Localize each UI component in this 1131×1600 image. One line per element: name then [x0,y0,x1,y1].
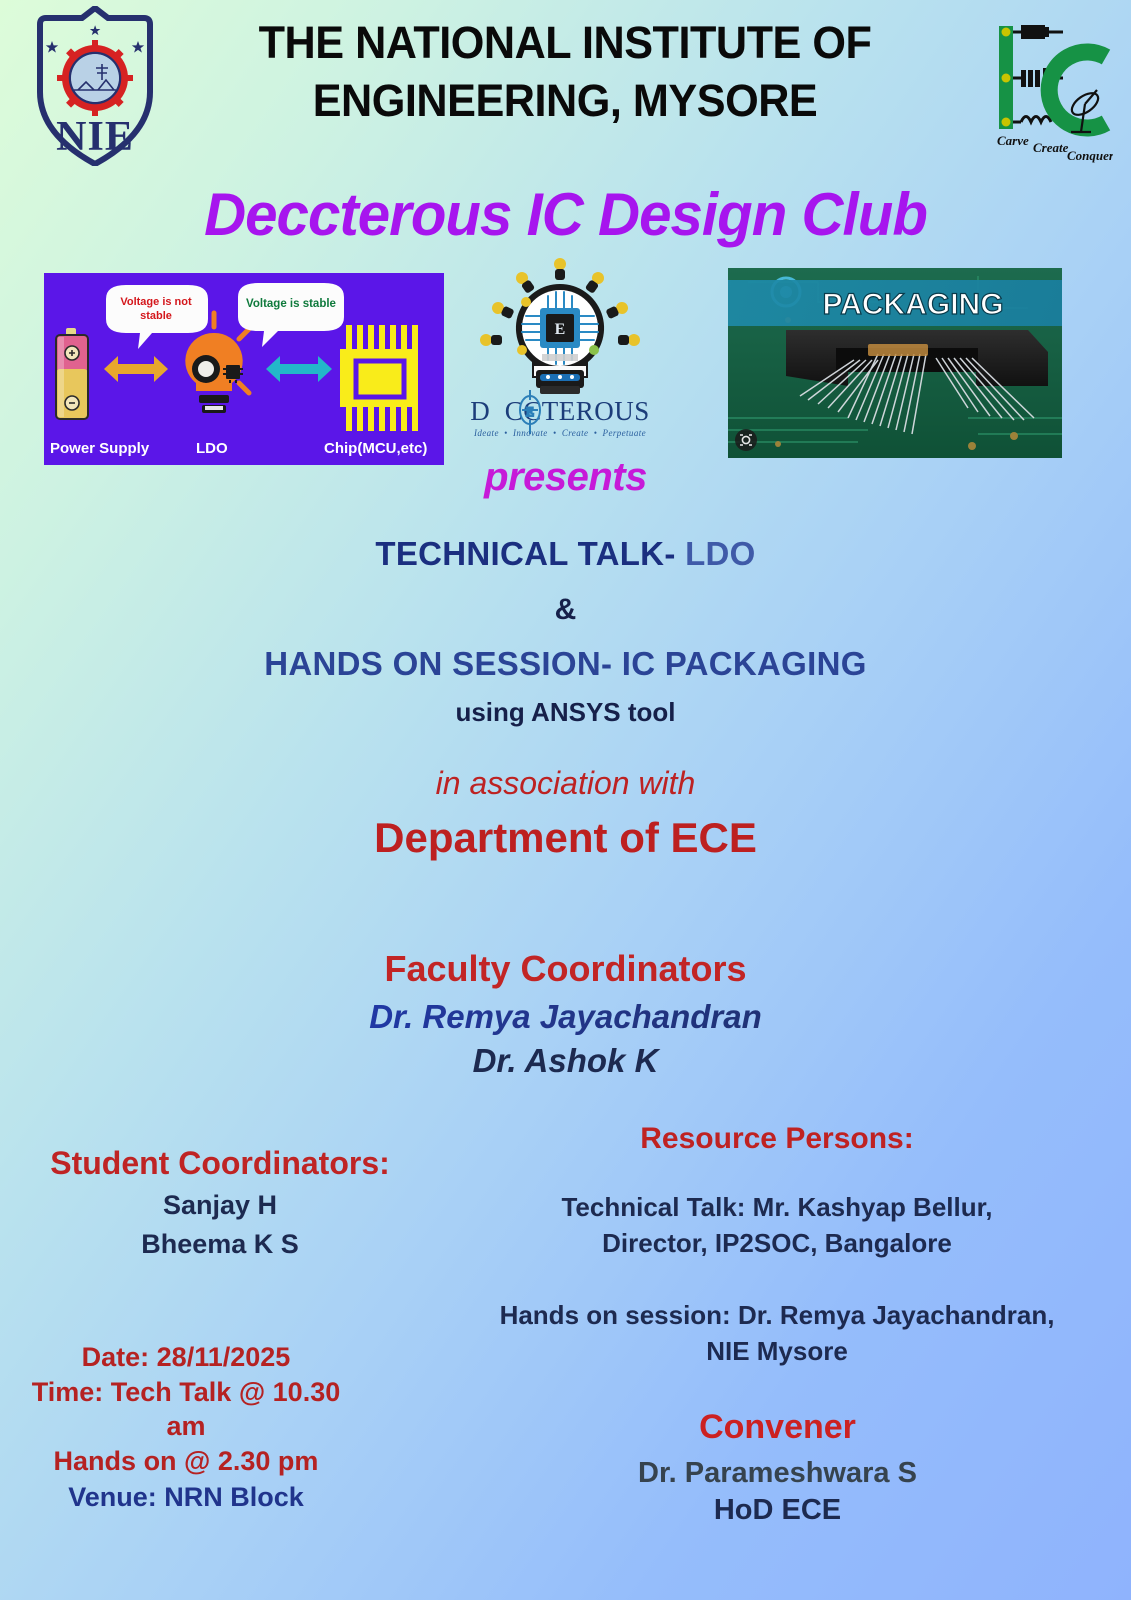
student-coordinators-heading: Student Coordinators: [0,1145,440,1182]
club-title: Deccterous IC Design Club [17,180,1114,249]
svg-text:stable: stable [140,310,172,322]
packaging-banner-text: PACKAGING [822,288,1003,321]
schedule-section: Date: 28/11/2025 Time: Tech Talk @ 10.30… [0,1340,372,1515]
event-titles: TECHNICAL TALK- LDO & HANDS ON SESSION- … [0,535,1131,728]
event-title-ampersand: & [0,593,1131,627]
student-coordinator-name-1: Sanjay H [0,1190,440,1221]
club-logo-tagline: Ideate • Innovate • Create • Perpetuate [473,428,646,438]
event-title-line1: TECHNICAL TALK- LDO [0,535,1131,573]
association-department: Department of ECE [0,814,1131,862]
student-coordinators-section: Student Coordinators: Sanjay H Bheema K … [0,1145,440,1260]
page-title: THE NATIONAL INSTITUTE OF ENGINEERING, M… [186,14,944,129]
resource-persons-section: Resource Persons: Technical Talk: Mr. Ka… [437,1122,1117,1370]
convener-name: Dr. Parameshwara S [560,1457,995,1490]
ece-tagline-2: Create [1033,140,1069,155]
schedule-time-talk: Time: Tech Talk @ 10.30 [0,1375,372,1410]
svg-text:E: E [526,404,534,419]
association-section: in association with Department of ECE [0,765,1131,862]
resource-persons-heading: Resource Persons: [437,1122,1117,1156]
ece-tagline-1: Carve [997,133,1029,148]
association-prefix: in association with [0,765,1131,802]
poster-header: NIE THE NATIONAL INSTITUTE OF ENGINEERIN… [0,0,1131,170]
packaging-illustration: PACKAGING [728,268,1062,458]
schedule-time-talk-cont: am [0,1409,372,1444]
resource-tech-talk-line1: Technical Talk: Mr. Kashyap Bellur, [437,1190,1117,1226]
faculty-coordinator-name-1: Dr. Remya Jayachandran [0,998,1131,1036]
schedule-time-hands-on: Hands on @ 2.30 pm [0,1444,372,1479]
svg-text:NIE: NIE [56,114,134,160]
svg-text:E: E [555,321,566,338]
ldo-bubble-left-text: Voltage is not [120,296,192,308]
resource-hands-on-line2: NIE Mysore [437,1334,1117,1370]
schedule-venue: Venue: NRN Block [0,1480,372,1515]
institute-name-line1: THE NATIONAL INSTITUTE OF [186,14,944,72]
faculty-coordinators-heading: Faculty Coordinators [0,948,1131,990]
faculty-coordinator-name-2: Dr. Ashok K [0,1042,1131,1080]
institute-name-line2: ENGINEERING, MYSORE [186,72,944,130]
convener-heading: Convener [560,1408,995,1447]
convener-section: Convener Dr. Parameshwara S HoD ECE [560,1408,995,1527]
nie-logo: NIE [30,6,160,166]
convener-designation: HoD ECE [560,1494,995,1527]
ldo-illustration: Voltage is not stable Voltage is stable … [44,273,444,465]
ldo-bubble-right-text: Voltage is stable [246,298,336,310]
schedule-date: Date: 28/11/2025 [0,1340,372,1375]
deccterous-club-logo: E D CCTEROUS E Ideate • Innovate • Creat… [470,258,650,458]
faculty-coordinators-section: Faculty Coordinators Dr. Remya Jayachand… [0,948,1131,1080]
event-subtitle-tool: using ANSYS tool [0,697,1131,728]
resource-tech-talk-line2: Director, IP2SOC, Bangalore [437,1226,1117,1262]
student-coordinator-name-2: Bheema K S [0,1229,440,1260]
ece-tagline-3: Conquer [1067,148,1113,163]
event-title-hands-on: HANDS ON SESSION- IC PACKAGING [0,645,1131,683]
event-title-technical-talk: TECHNICAL TALK- [375,535,675,572]
ece-department-logo: Carve Create Conquer [963,12,1113,164]
event-title-ldo: LDO [676,535,756,572]
presents-label: presents [0,455,1131,500]
club-logo-wordmark: D CCTEROUS [470,396,650,426]
resource-hands-on-line1: Hands on session: Dr. Remya Jayachandran… [437,1298,1117,1334]
